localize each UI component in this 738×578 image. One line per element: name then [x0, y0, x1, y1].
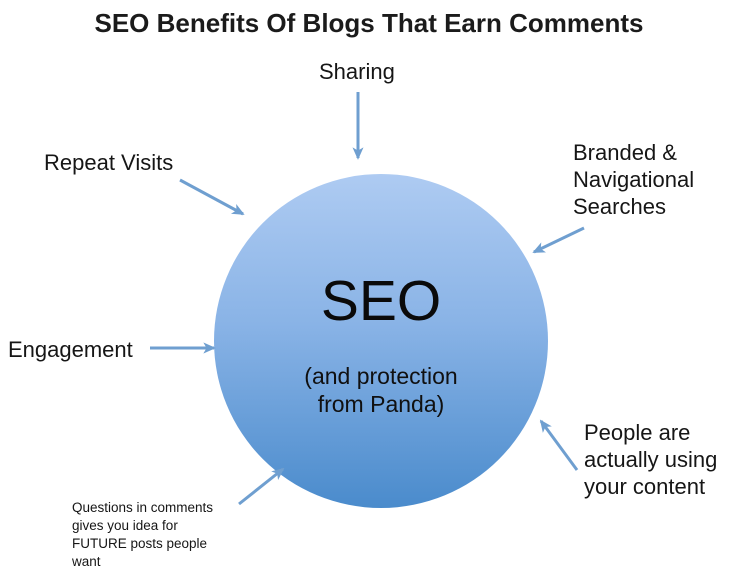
benefit-branded-navigational-searches: Branded & Navigational Searches — [534, 140, 694, 252]
benefit-label-branded-line1: Branded & — [573, 140, 677, 165]
benefit-label-branded-line2: Navigational — [573, 167, 694, 192]
benefit-label-people-line2: actually using — [584, 447, 717, 472]
benefit-sharing: Sharing — [319, 59, 395, 158]
center-circle-sublabel-line1: (and protection — [304, 363, 457, 389]
benefit-engagement: Engagement — [8, 337, 214, 362]
page-title: SEO Benefits Of Blogs That Earn Comments — [95, 8, 644, 38]
benefit-label-repeat-visits: Repeat Visits — [44, 150, 173, 175]
benefit-label-people-line1: People are — [584, 420, 690, 445]
note-label-questions-line4: want — [71, 554, 101, 569]
center-circle-label: SEO — [321, 269, 441, 333]
note-label-questions-line3: FUTURE posts people — [72, 536, 207, 551]
benefit-label-people-line3: your content — [584, 474, 705, 499]
seo-benefits-diagram: SEO Benefits Of Blogs That Earn Comments… — [0, 0, 738, 578]
arrow-questions-in-comments-icon — [239, 469, 283, 504]
benefit-label-branded-line3: Searches — [573, 194, 666, 219]
benefit-questions-in-comments: Questions in comments gives you idea for… — [71, 469, 283, 569]
arrow-branded-searches-icon — [534, 228, 584, 252]
arrow-people-using-content-icon — [541, 421, 577, 470]
center-circle-sublabel-line2: from Panda) — [318, 391, 445, 417]
arrow-repeat-visits-icon — [180, 180, 243, 214]
diagram-canvas: SEO Benefits Of Blogs That Earn Comments… — [0, 0, 738, 578]
center-circle-seo — [214, 174, 548, 508]
benefit-label-sharing: Sharing — [319, 59, 395, 84]
benefit-label-engagement: Engagement — [8, 337, 133, 362]
note-label-questions-line1: Questions in comments — [72, 500, 213, 515]
note-label-questions-line2: gives you idea for — [72, 518, 178, 533]
benefit-people-actually-using-content: People are actually using your content — [541, 420, 717, 499]
benefit-repeat-visits: Repeat Visits — [44, 150, 243, 214]
